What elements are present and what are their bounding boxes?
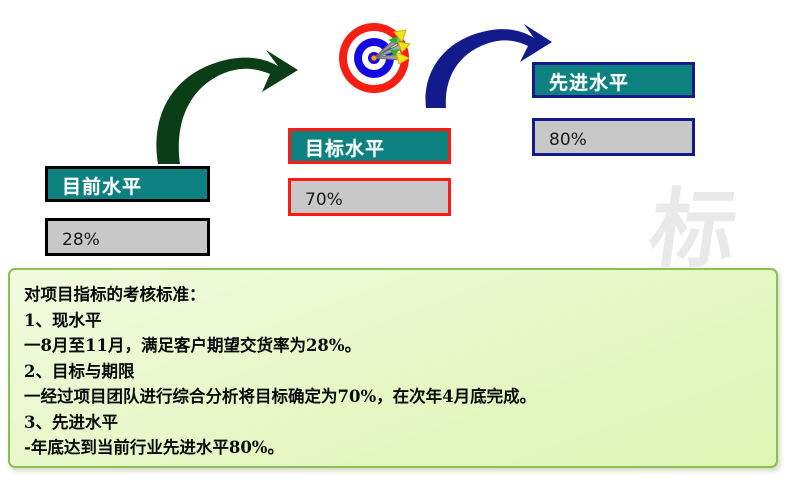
notes-line: 2、目标与期限 (24, 359, 762, 385)
watermark: 标 (601, 180, 785, 280)
notes-panel: 对项目指标的考核标准： 1、现水平 一8月至11月，满足客户期望交货率为28%。… (8, 268, 778, 468)
step-group-target: 目标水平 70% (288, 128, 451, 216)
step-header-current: 目前水平 (45, 166, 210, 202)
notes-line: 对项目指标的考核标准： (24, 282, 762, 308)
step-value-target: 70% (288, 178, 451, 216)
notes-line: -年底达到当前行业先进水平80%。 (24, 435, 762, 461)
bullseye-target-icon (336, 16, 416, 96)
notes-line: 一经过项目团队进行综合分析将目标确定为70%，在次年4月底完成。 (24, 384, 762, 410)
step-header-advanced: 先进水平 (532, 62, 695, 98)
step-header-target: 目标水平 (288, 128, 451, 164)
notes-line: 3、先进水平 (24, 410, 762, 436)
left-arrow-icon (146, 40, 298, 168)
notes-line: 一8月至11月，满足客户期望交货率为28%。 (24, 333, 762, 359)
step-group-current: 目前水平 28% (45, 166, 210, 256)
step-value-advanced: 80% (532, 118, 695, 156)
step-group-advanced: 先进水平 80% (532, 62, 695, 156)
step-value-current: 28% (45, 218, 210, 256)
slide-canvas: 标 (0, 0, 786, 484)
notes-line: 1、现水平 (24, 308, 762, 334)
